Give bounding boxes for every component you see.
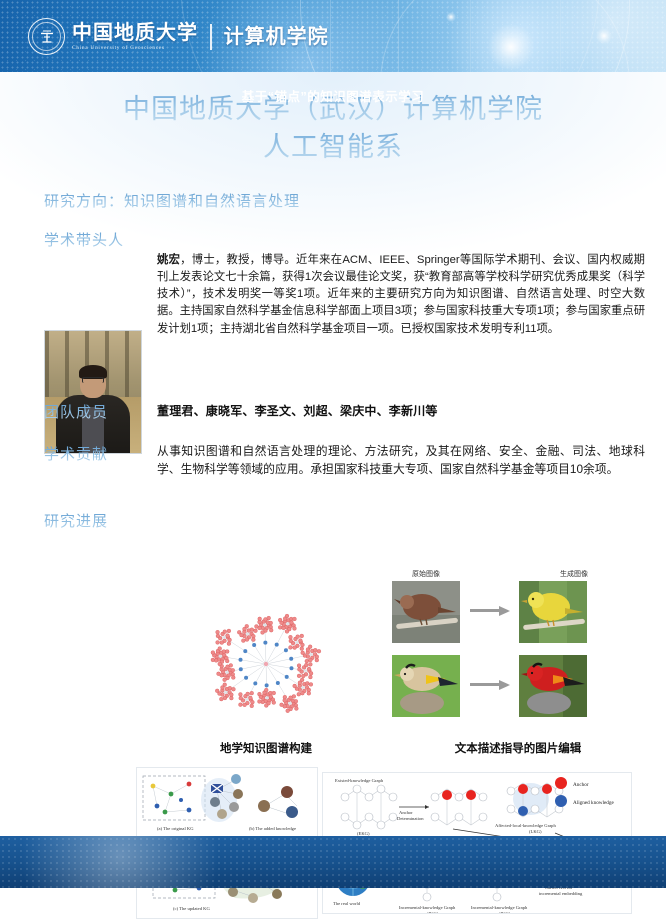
bottom-figure-caption: 基于“锚点”的知识图谱表示学习 <box>0 86 666 105</box>
bird-generated-2 <box>519 655 587 717</box>
birds-label-original: 原始图像 <box>389 569 463 579</box>
logo-university-name: 中国地质大学 <box>72 22 198 43</box>
ekg-label: Existed-knowledge Graph <box>335 778 384 783</box>
text-guided-image-editing-figure: 原始图像 生成图像 <box>385 569 651 729</box>
legend-anchor-label: Anchor <box>573 782 589 788</box>
banner-light-glow <box>446 12 456 22</box>
ikg-left-label: Incremental-knowledge Graph <box>399 905 456 910</box>
university-logo[interactable]: 中国地质大学 China University of Geosciences 计… <box>28 18 329 55</box>
leader-name: 姚宏 <box>157 254 180 266</box>
birds-label-generated: 生成图像 <box>537 569 611 579</box>
academic-contribution-text: 从事知识图谱和自然语言处理的理论、方法研究，及其在网络、安全、金融、司法、地球科… <box>157 442 645 479</box>
banner-vertical-line <box>560 0 561 72</box>
vertical-divider-icon <box>210 24 212 50</box>
bird-original-2 <box>392 655 460 717</box>
banner-vertical-line <box>398 0 399 72</box>
team-members-list: 董理君、康晓军、李圣文、刘超、梁庆中、李新川等 <box>157 402 438 419</box>
ikg-left-abbr-label: (IKG) <box>427 911 439 914</box>
ikg-right-abbr-label: (IKG) <box>499 911 511 914</box>
team-members-label: 团队成员 <box>44 401 108 422</box>
ikg-right-label: Incremental-knowledge Graph <box>471 905 528 910</box>
research-progress-label: 研究进展 <box>44 510 108 531</box>
carrier-kg-label-2: incremental embedding <box>539 891 583 896</box>
transform-arrow-icon <box>470 607 510 614</box>
leader-biography: 姚宏，博士，教授，博导。近年来在ACM、IEEE、Springer等国际学术期刊… <box>157 252 645 338</box>
banner-vertical-line <box>330 0 331 72</box>
kg-sub-c-label: (c) The updated KG <box>173 906 210 911</box>
anchor-determination-label-2: Determination <box>397 816 424 821</box>
banner-light-glow <box>488 24 534 70</box>
site-header-banner: 中国地质大学 China University of Geosciences 计… <box>0 0 666 72</box>
logo-school-name: 计算机学院 <box>224 26 329 47</box>
banner-vertical-line <box>470 0 471 72</box>
birds-figure-caption: 文本描述指导的图片编辑 <box>385 740 651 756</box>
lkg-abbr-label: (LKG) <box>529 829 542 834</box>
kg-sub-b-label: (b) The added knowledge <box>249 826 296 831</box>
academic-contribution-label: 学术贡献 <box>44 443 108 464</box>
research-direction-label: 研究方向：知识图谱和自然语言处理 <box>44 190 300 211</box>
transform-arrow-icon <box>470 681 510 688</box>
banner-light-glow <box>596 28 612 44</box>
logo-university-name-en: China University of Geosciences <box>72 45 198 51</box>
anchor-determination-label-1: Anchor <box>399 810 413 815</box>
lkg-label: Affected-local-knowledge Graph <box>495 823 556 828</box>
geo-knowledge-graph-figure <box>168 600 364 734</box>
radial-graph-svg <box>168 600 364 734</box>
footer-banner <box>0 836 666 888</box>
academic-leader-label: 学术带头人 <box>44 229 124 250</box>
university-seal-icon <box>28 18 65 55</box>
real-world-label: The real world <box>333 901 361 906</box>
poster-body: 中国地质大学（武汉）计算机学院 人工智能系 研究方向：知识图谱和自然语言处理 学… <box>0 72 666 888</box>
radial-figure-caption: 地学知识图谱构建 <box>168 740 364 756</box>
bird-original-1 <box>392 581 460 643</box>
leader-portrait-photo <box>44 330 142 454</box>
bird-generated-1 <box>519 581 587 643</box>
page-title-line-2: 人工智能系 <box>0 128 666 166</box>
kg-sub-a-label: (a) The original KG <box>157 826 194 831</box>
leader-bio-text: ，博士，教授，博导。近年来在ACM、IEEE、Springer等国际学术期刊、会… <box>157 254 645 335</box>
legend-aligned-label: Aligned knowledge <box>573 800 614 806</box>
